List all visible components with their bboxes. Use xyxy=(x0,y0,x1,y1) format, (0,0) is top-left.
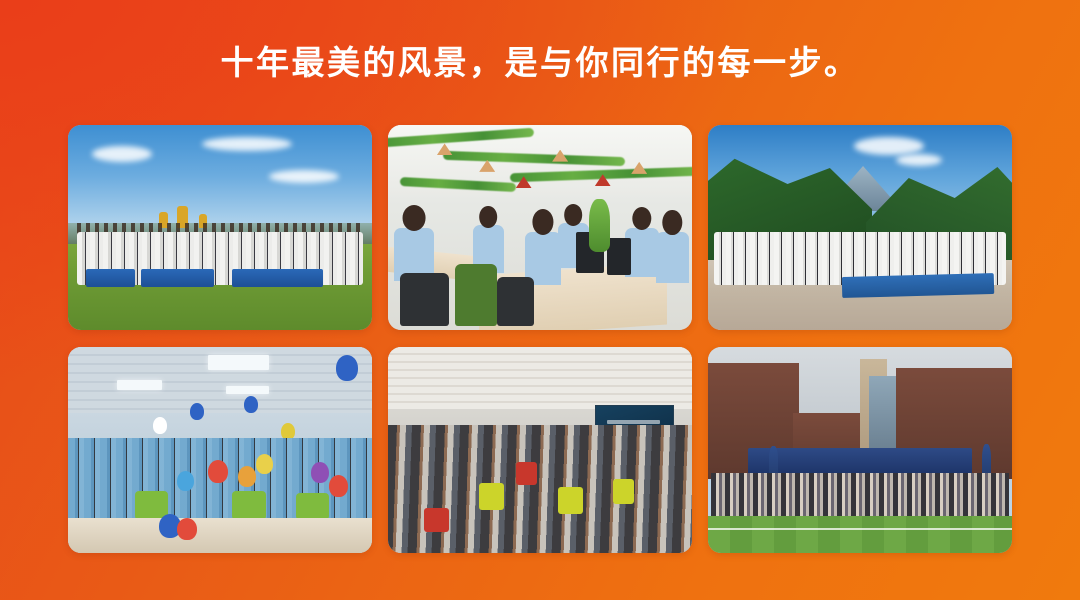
balloon xyxy=(336,355,358,381)
photo-6-image xyxy=(708,347,1012,553)
cloud-shape xyxy=(269,170,339,183)
balloon xyxy=(329,475,348,497)
employee xyxy=(656,232,689,283)
photo-card-4[interactable]: 周年庆典现场 xyxy=(68,347,372,553)
photo-card-5[interactable]: 内部分享会 xyxy=(388,347,692,553)
field-line xyxy=(708,528,1012,530)
balloon xyxy=(153,417,167,434)
desk-plant xyxy=(589,199,610,252)
cloud-shape xyxy=(896,154,942,166)
yellow-chair xyxy=(558,487,582,514)
anniversary-banner xyxy=(842,273,995,297)
banner-mid xyxy=(141,269,214,287)
monitor xyxy=(607,238,631,275)
photo-gallery-grid: 一九八一 · 2023年会合影 xyxy=(68,125,1012,553)
balloon xyxy=(177,471,194,491)
crowd-group xyxy=(711,473,1009,516)
office-chair xyxy=(400,273,449,326)
photo-1-image xyxy=(68,125,372,330)
slide-text xyxy=(607,420,661,424)
photo-card-6[interactable]: 园区全员合影 xyxy=(708,347,1012,553)
page-title: 十年最美的风景，是与你同行的每一步。 xyxy=(221,43,860,83)
ceiling-light xyxy=(117,380,163,390)
poster-canvas: 十年最美的风景，是与你同行的每一步。 一九八一 · 2023年会合 xyxy=(0,0,1080,600)
photo-card-1[interactable]: 一九八一 · 2023年会合影 xyxy=(68,125,372,330)
office-chair xyxy=(497,277,533,326)
balloon xyxy=(177,518,197,540)
photo-3-image xyxy=(708,125,1012,330)
banner-left xyxy=(86,269,135,287)
yellow-chair xyxy=(613,479,634,504)
balloon xyxy=(311,462,329,483)
photo-5-image xyxy=(388,347,692,553)
title-area: 十年最美的风景，是与你同行的每一步。 xyxy=(0,0,1080,125)
ceiling-light xyxy=(226,386,269,394)
banner-right xyxy=(232,269,323,287)
audience-seating xyxy=(388,425,692,553)
green-chair xyxy=(232,491,265,520)
red-chair xyxy=(424,508,448,533)
ceiling-rails xyxy=(388,347,692,409)
stage-backdrop xyxy=(748,448,973,475)
photo-card-3[interactable]: 一九八一 · 八周年 · 2023团建 xyxy=(708,125,1012,330)
front-table xyxy=(68,518,372,553)
balloon xyxy=(208,460,228,483)
yellow-chair xyxy=(479,483,503,510)
photo-2-image xyxy=(388,125,692,330)
sports-field xyxy=(708,516,1012,553)
balloon xyxy=(238,466,256,487)
ceiling-light xyxy=(208,355,269,369)
office-chair xyxy=(455,264,498,326)
photo-4-image xyxy=(68,347,372,553)
photo-card-2[interactable]: 办公区日常 xyxy=(388,125,692,330)
balloon xyxy=(190,403,204,420)
balloon xyxy=(256,454,273,474)
green-chair xyxy=(296,493,329,520)
red-chair xyxy=(516,462,537,485)
cloud-shape xyxy=(92,146,152,162)
